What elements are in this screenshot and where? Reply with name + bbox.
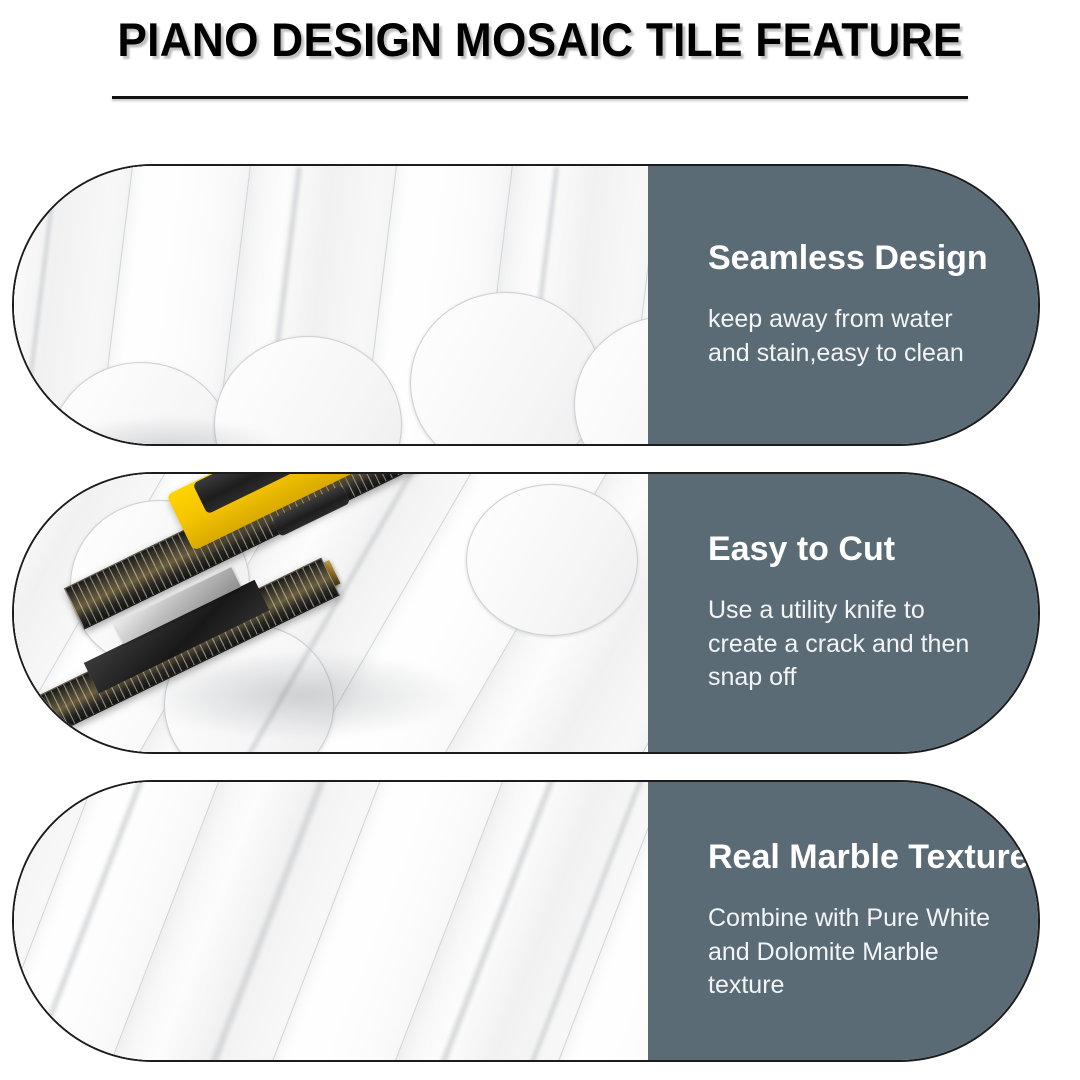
feature-text-panel-real-marble-texture: Real Marble Texture Combine with Pure Wh…	[648, 782, 1038, 1060]
feature-photo-real-marble-texture	[14, 782, 648, 1060]
feature-body-line: texture	[708, 969, 1004, 1003]
feature-card-real-marble-texture: Real Marble Texture Combine with Pure Wh…	[12, 780, 1040, 1062]
feature-body-line: and Dolomite Marble	[708, 936, 1004, 970]
tile-rounded-end	[466, 484, 638, 636]
page-header: PIANO DESIGN MOSAIC TILE FEATURE	[0, 0, 1080, 150]
feature-photo-easy-to-cut: 12 13 14 15 16 17 8 9	[14, 474, 648, 752]
feature-body: Use a utility knife to create a crack an…	[708, 594, 1004, 695]
feature-photo-seamless-design	[14, 166, 648, 444]
feature-card-easy-to-cut: 12 13 14 15 16 17 8 9 Easy to Cut	[12, 472, 1040, 754]
feature-body: keep away from water and stain,easy to c…	[708, 303, 1004, 370]
feature-body-line: and stain,easy to clean	[708, 337, 1004, 371]
page-title: PIANO DESIGN MOSAIC TILE FEATURE	[32, 12, 1047, 67]
photo-shadow	[134, 650, 464, 740]
title-divider	[112, 96, 968, 99]
feature-body-line: keep away from water	[708, 303, 1004, 337]
photo-shadow	[44, 416, 284, 444]
feature-body-line: Use a utility knife to	[708, 594, 1004, 628]
feature-body-line: Combine with Pure White	[708, 902, 1004, 936]
feature-heading: Seamless Design	[708, 240, 1004, 277]
feature-text-panel-easy-to-cut: Easy to Cut Use a utility knife to creat…	[648, 474, 1038, 752]
feature-heading: Easy to Cut	[708, 531, 1004, 568]
feature-text-panel-seamless-design: Seamless Design keep away from water and…	[648, 166, 1038, 444]
feature-card-seamless-design: Seamless Design keep away from water and…	[12, 164, 1040, 446]
feature-body-line: create a crack and then	[708, 628, 1004, 662]
feature-body: Combine with Pure White and Dolomite Mar…	[708, 902, 1004, 1003]
feature-body-line: snap off	[708, 661, 1004, 695]
feature-heading: Real Marble Texture	[708, 839, 1004, 876]
